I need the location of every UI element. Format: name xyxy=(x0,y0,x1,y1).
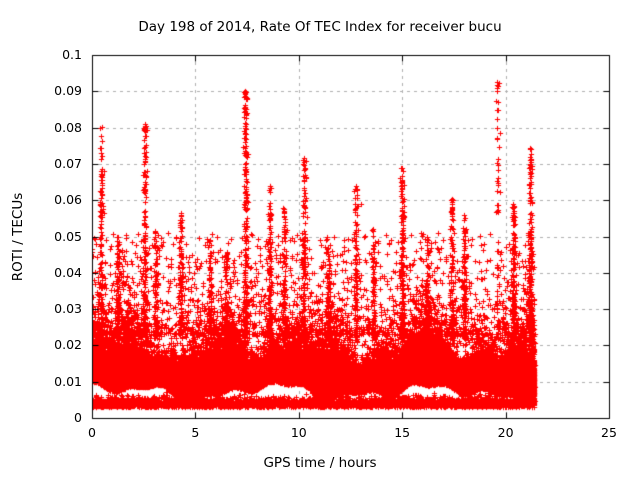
y-tick-label: 0.09 xyxy=(24,83,82,98)
y-tick-label: 0.07 xyxy=(24,156,82,171)
y-tick-label: 0.05 xyxy=(24,229,82,244)
x-tick-label: 10 xyxy=(269,425,329,440)
y-tick-label: 0.08 xyxy=(24,120,82,135)
x-tick-label: 20 xyxy=(476,425,536,440)
chart-page: Day 198 of 2014, Rate Of TEC Index for r… xyxy=(0,0,640,480)
y-tick-label: 0.04 xyxy=(24,265,82,280)
y-tick-label: 0.06 xyxy=(24,192,82,207)
y-tick-label: 0 xyxy=(24,410,82,425)
scatter-plot-canvas xyxy=(0,0,640,480)
chart-title: Day 198 of 2014, Rate Of TEC Index for r… xyxy=(0,19,640,35)
x-tick-label: 15 xyxy=(372,425,432,440)
y-tick-label: 0.1 xyxy=(24,47,82,62)
x-tick-label: 25 xyxy=(579,425,639,440)
x-tick-label: 5 xyxy=(165,425,225,440)
y-tick-label: 0.03 xyxy=(24,301,82,316)
x-axis-label: GPS time / hours xyxy=(0,455,640,471)
x-tick-label: 0 xyxy=(62,425,122,440)
y-tick-label: 0.01 xyxy=(24,374,82,389)
y-tick-label: 0.02 xyxy=(24,337,82,352)
